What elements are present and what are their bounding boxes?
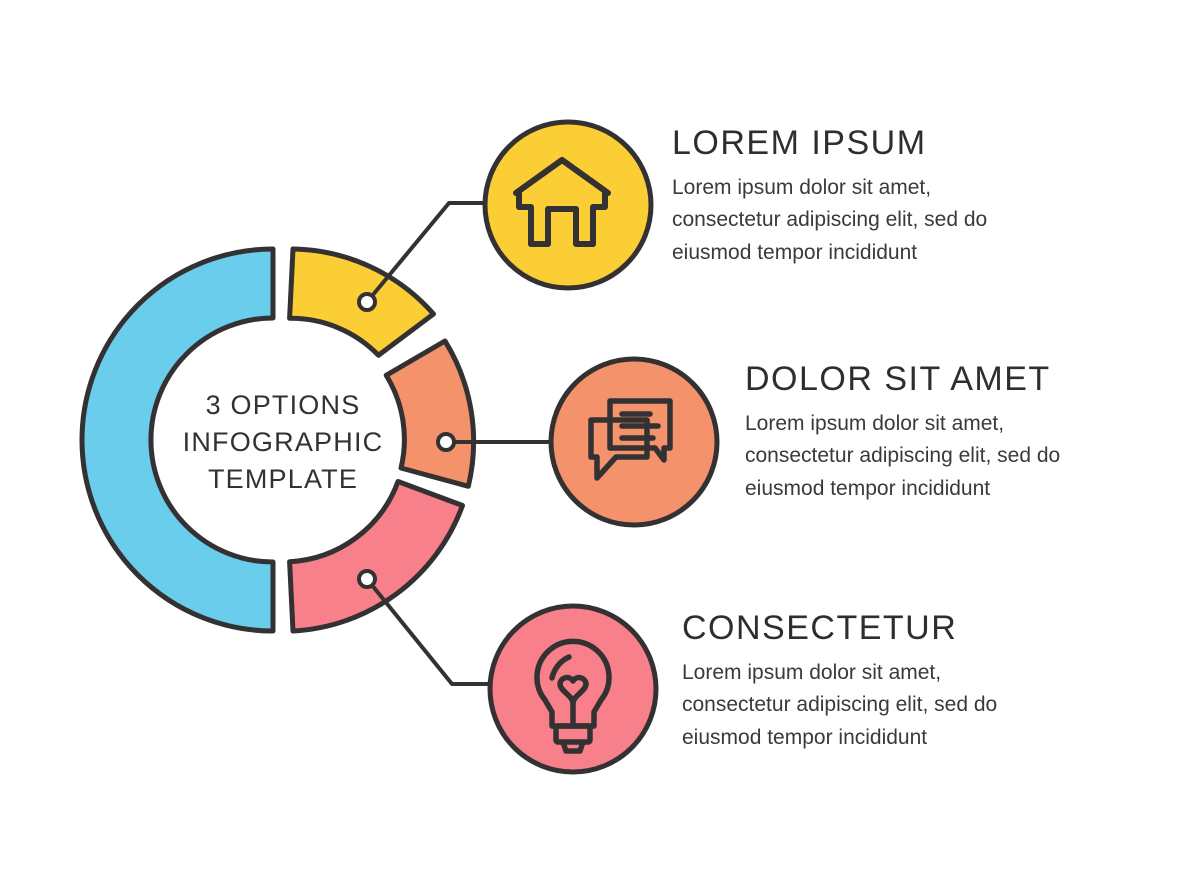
option-2-body-line-3: eiusmod tempor incididunt — [745, 473, 1105, 506]
option-1-text-block: LOREM IPSUM Lorem ipsum dolor sit amet, … — [672, 126, 1032, 269]
option-3-body-line-2: consectetur adipiscing elit, sed do — [682, 689, 1042, 722]
option-1-body-line-3: eiusmod tempor incididunt — [672, 237, 1032, 270]
option-2-body-line-2: consectetur adipiscing elit, sed do — [745, 440, 1105, 473]
donut-center-label: 3 OPTIONS INFOGRAPHIC TEMPLATE — [183, 390, 384, 494]
option-3-text-block: CONSECTETUR Lorem ipsum dolor sit amet, … — [682, 611, 1042, 754]
option-2-title: DOLOR SIT AMET — [745, 362, 1105, 398]
connector-dot-1 — [359, 294, 375, 310]
connector-dot-2 — [438, 434, 454, 450]
option-1-circle[interactable] — [485, 122, 651, 288]
center-line-1: 3 OPTIONS — [206, 390, 361, 420]
option-1-title: LOREM IPSUM — [672, 126, 1032, 162]
option-2-icon-badge[interactable] — [551, 359, 717, 525]
donut-segment-3[interactable] — [290, 482, 463, 632]
option-1-body: Lorem ipsum dolor sit amet, consectetur … — [672, 172, 1032, 270]
option-2-circle[interactable] — [551, 359, 717, 525]
option-3-icon-badge[interactable] — [490, 606, 656, 772]
center-line-2: INFOGRAPHIC — [183, 427, 384, 457]
option-1-icon-badge[interactable] — [485, 122, 651, 288]
option-3-body: Lorem ipsum dolor sit amet, consectetur … — [682, 657, 1042, 755]
option-3-body-line-1: Lorem ipsum dolor sit amet, — [682, 657, 1042, 690]
infographic-canvas: 3 OPTIONS INFOGRAPHIC TEMPLATE — [0, 0, 1200, 889]
donut-segment-2[interactable] — [386, 341, 473, 486]
connector-dot-3 — [359, 571, 375, 587]
center-line-3: TEMPLATE — [208, 464, 358, 494]
option-3-title: CONSECTETUR — [682, 611, 1042, 647]
option-3-body-line-3: eiusmod tempor incididunt — [682, 722, 1042, 755]
option-2-body: Lorem ipsum dolor sit amet, consectetur … — [745, 408, 1105, 506]
option-2-text-block: DOLOR SIT AMET Lorem ipsum dolor sit ame… — [745, 362, 1105, 505]
option-2-body-line-1: Lorem ipsum dolor sit amet, — [745, 408, 1105, 441]
option-1-body-line-2: consectetur adipiscing elit, sed do — [672, 204, 1032, 237]
option-3-circle[interactable] — [490, 606, 656, 772]
option-1-body-line-1: Lorem ipsum dolor sit amet, — [672, 172, 1032, 205]
